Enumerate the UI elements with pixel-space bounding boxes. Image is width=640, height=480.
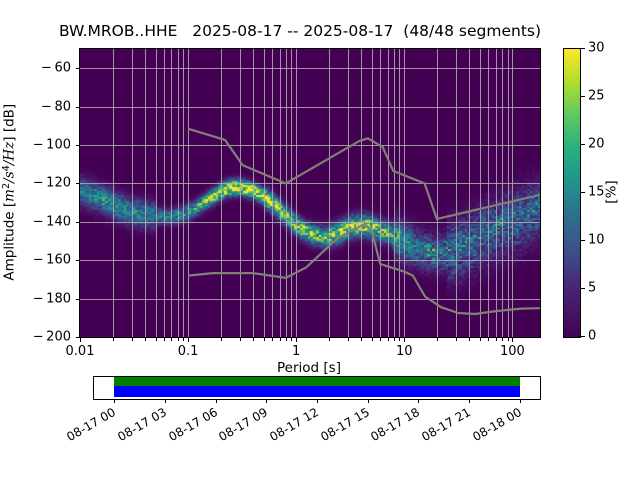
- y-tick-label: − 100: [33, 138, 71, 153]
- timeline-tick-mark: [368, 399, 369, 403]
- colorbar-tick-mark: [580, 96, 585, 97]
- colorbar-tick-label: 30: [588, 41, 605, 56]
- timeline-tick-label: 08-17 18: [369, 405, 423, 444]
- timeline-tick-mark: [418, 399, 419, 403]
- x-tick-mark: [512, 337, 513, 342]
- x-tick-label: 0.01: [66, 344, 95, 359]
- y-tick-label: − 80: [41, 99, 71, 114]
- y-tick-mark: [76, 260, 81, 261]
- x-tick-mark: [502, 337, 503, 341]
- y-tick-label: − 120: [33, 176, 71, 191]
- x-tick-mark: [496, 337, 497, 341]
- y-tick-mark: [76, 145, 81, 146]
- x-tick-mark: [132, 337, 133, 341]
- colorbar-tick-mark: [580, 288, 585, 289]
- timeline-tick-label: 08-17 00: [64, 405, 118, 444]
- x-tick-mark: [296, 337, 297, 342]
- y-tick-mark: [76, 68, 81, 69]
- x-tick-mark: [394, 337, 395, 341]
- ppsd-plot-area: [80, 49, 540, 337]
- timeline-tick-label: 08-17 21: [419, 405, 473, 444]
- colorbar: [563, 48, 581, 338]
- ppsd-figure: BW.MROB..HHE 2025-08-17 -- 2025-08-17 (4…: [0, 0, 640, 480]
- colorbar-tick-label: 10: [588, 233, 605, 248]
- timeline-data-bar: [114, 377, 520, 386]
- timeline-tick-label: 08-18 00: [470, 405, 524, 444]
- y-tick-label: − 140: [33, 214, 71, 229]
- x-tick-mark: [388, 337, 389, 341]
- colorbar-tick-label: 5: [588, 281, 596, 296]
- colorbar-tick-mark: [580, 240, 585, 241]
- x-tick-mark: [264, 337, 265, 341]
- y-tick-label: − 60: [41, 61, 71, 76]
- x-tick-mark: [286, 337, 287, 341]
- x-tick-mark: [171, 337, 172, 341]
- x-tick-mark: [156, 337, 157, 341]
- colorbar-tick-mark: [580, 192, 585, 193]
- x-tick-mark: [329, 337, 330, 341]
- x-tick-mark: [456, 337, 457, 341]
- x-tick-mark: [280, 337, 281, 341]
- colorbar-tick-label: 20: [588, 137, 605, 152]
- x-tick-mark: [272, 337, 273, 341]
- x-tick-mark: [240, 337, 241, 341]
- colorbar-label: [%]: [604, 180, 620, 203]
- x-tick-mark: [145, 337, 146, 341]
- high-noise-model-curve: [188, 129, 540, 219]
- x-tick-mark: [178, 337, 179, 341]
- colorbar-tick-label: 25: [588, 89, 605, 104]
- colorbar-title: [%]: [604, 48, 620, 336]
- y-tick-mark: [76, 222, 81, 223]
- x-tick-mark: [348, 337, 349, 341]
- timeline-tick-mark: [469, 399, 470, 403]
- y-tick-label: − 200: [33, 330, 71, 345]
- x-tick-mark: [361, 337, 362, 341]
- colorbar-tick-mark: [580, 48, 585, 49]
- colorbar-tick-mark: [580, 144, 585, 145]
- x-tick-mark: [469, 337, 470, 341]
- x-tick-mark: [164, 337, 165, 341]
- timeline-tick-mark: [216, 399, 217, 403]
- colorbar-tick-mark: [580, 336, 585, 337]
- timeline-coverage-bar: [114, 386, 520, 397]
- y-tick-label: − 180: [33, 291, 71, 306]
- colorbar-tick-label: 0: [588, 329, 596, 344]
- ppsd-axes[interactable]: 0.010.1110100 − 60− 80− 100− 120− 140− 1…: [79, 48, 541, 338]
- timeline-tick-label: 08-17 06: [166, 405, 220, 444]
- x-tick-mark: [183, 337, 184, 341]
- y-tick-label: − 160: [33, 253, 71, 268]
- x-tick-mark: [437, 337, 438, 341]
- timeline-tick-mark: [114, 399, 115, 403]
- x-tick-mark: [221, 337, 222, 341]
- y-tick-mark: [76, 337, 81, 338]
- x-tick-mark: [508, 337, 509, 341]
- timeline-tick-mark: [317, 399, 318, 403]
- low-noise-model-curve: [188, 224, 540, 314]
- y-tick-mark: [76, 107, 81, 108]
- x-tick-mark: [380, 337, 381, 341]
- x-tick-mark: [253, 337, 254, 341]
- noise-model-curves: [80, 49, 540, 337]
- timeline-tick-mark: [165, 399, 166, 403]
- x-tick-mark: [404, 337, 405, 342]
- timeline-tick-label: 08-17 03: [115, 405, 169, 444]
- x-axis-title: Period [s]: [79, 360, 539, 376]
- y-tick-mark: [76, 183, 81, 184]
- x-tick-mark: [480, 337, 481, 341]
- figure-title: BW.MROB..HHE 2025-08-17 -- 2025-08-17 (4…: [0, 22, 600, 40]
- x-tick-mark: [488, 337, 489, 341]
- x-tick-mark: [80, 337, 81, 342]
- x-tick-label: 1: [292, 344, 300, 359]
- x-tick-label: 100: [500, 344, 525, 359]
- timeline-plot-area: [94, 377, 540, 399]
- x-tick-mark: [113, 337, 114, 341]
- x-tick-label: 10: [396, 344, 413, 359]
- x-tick-label: 0.1: [178, 344, 199, 359]
- colorbar-tick-label: 15: [588, 185, 605, 200]
- x-tick-mark: [399, 337, 400, 341]
- y-tick-mark: [76, 299, 81, 300]
- x-tick-mark: [372, 337, 373, 341]
- timeline-tick-label: 08-17 12: [267, 405, 321, 444]
- x-tick-mark: [291, 337, 292, 341]
- timeline-tick-label: 08-17 09: [216, 405, 270, 444]
- y-axis-title: Amplitude [m2/s4/Hz] [dB]: [0, 48, 18, 336]
- timeline-tick-label: 08-17 15: [318, 405, 372, 444]
- timeline-tick-mark: [266, 399, 267, 403]
- timeline-tick-mark: [520, 399, 521, 403]
- timeline-axes[interactable]: [93, 376, 541, 400]
- x-tick-mark: [188, 337, 189, 342]
